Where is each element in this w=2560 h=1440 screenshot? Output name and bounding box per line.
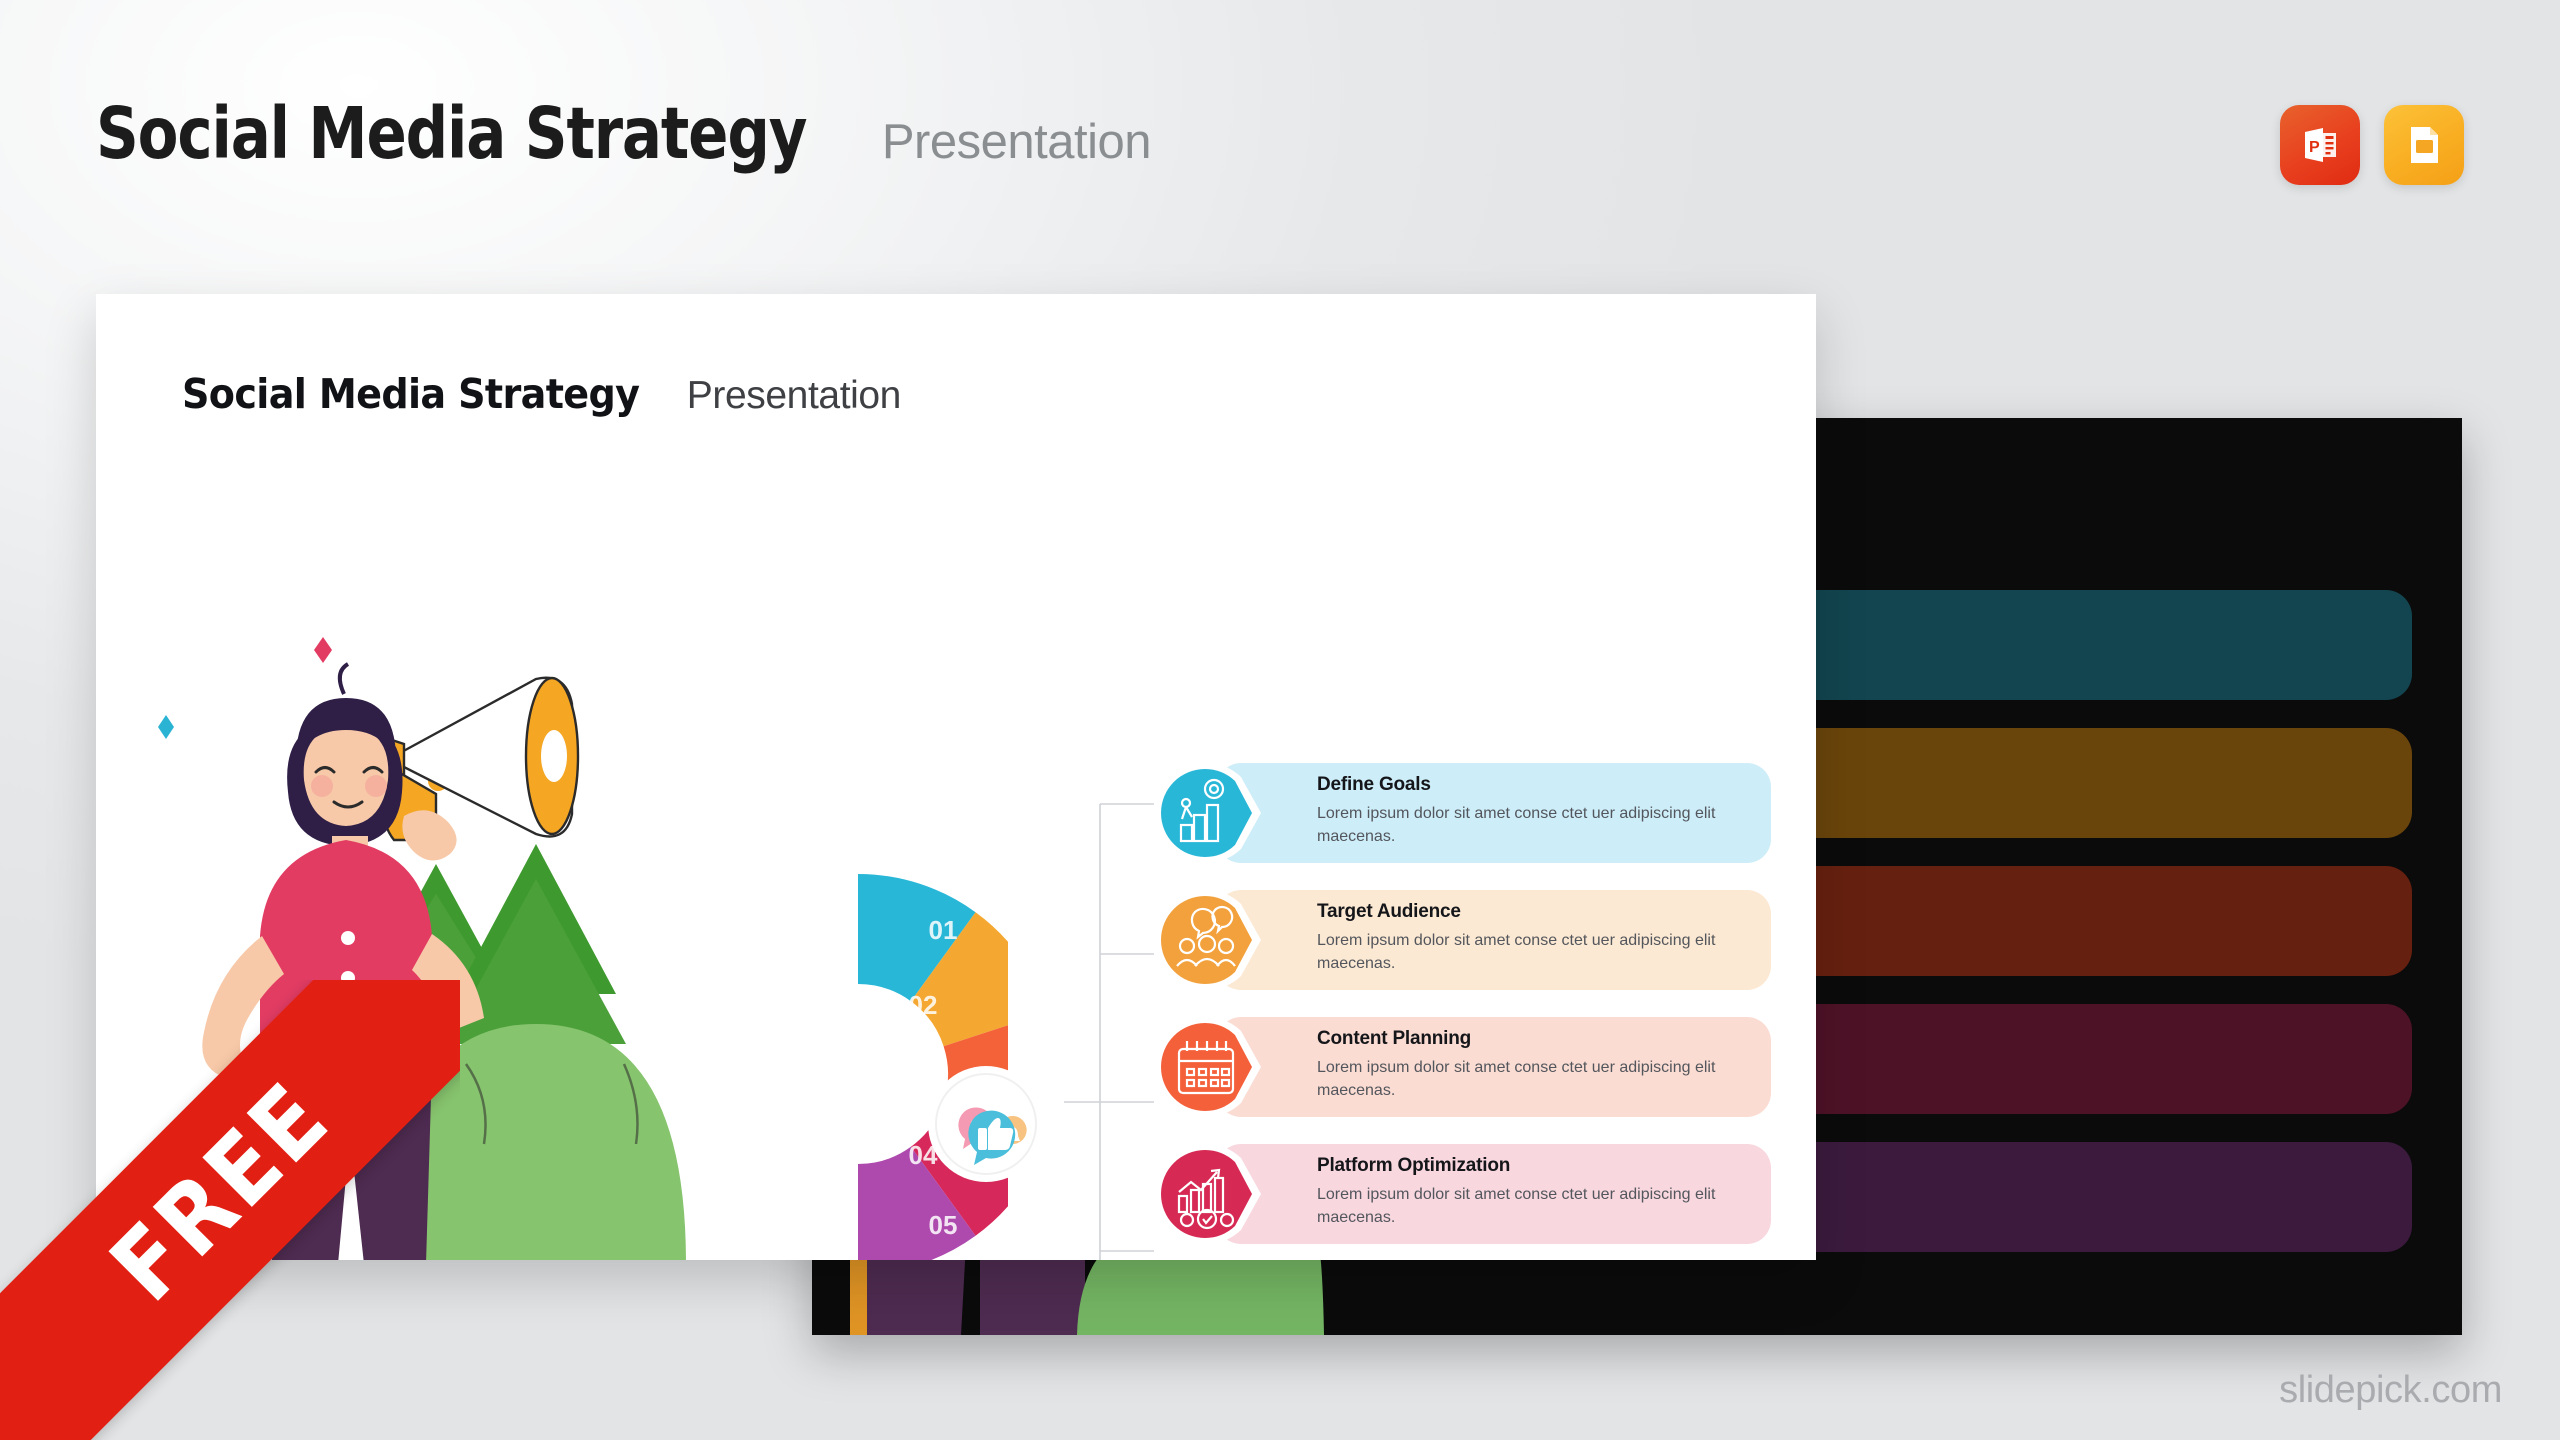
list-item[interactable]: Target Audience Lorem ipsum dolor sit am… — [1151, 886, 1771, 994]
item-card-1[interactable]: Target Audience Lorem ipsum dolor sit am… — [1217, 890, 1771, 990]
slide-title-bold: Social Media Strategy — [182, 370, 639, 418]
site-watermark: slidepick.com — [2279, 1369, 2502, 1412]
woman-with-megaphone-illustration — [136, 544, 756, 1260]
svg-text:P: P — [2309, 139, 2320, 156]
page-header: Social Media Strategy Presentation — [96, 92, 1151, 175]
item-title: Content Planning — [1317, 1028, 1751, 1050]
donut-label-1: 01 — [929, 915, 958, 945]
item-title: Define Goals — [1317, 774, 1751, 796]
light-slide-item-list: Define Goals Lorem ipsum dolor sit amet … — [1151, 759, 1771, 1260]
donut-label-5: 05 — [929, 1210, 958, 1240]
item-title: Target Audience — [1317, 901, 1751, 923]
goal-target-chart-icon — [1151, 759, 1263, 867]
donut-label-2: 02 — [909, 990, 938, 1020]
slide-title-light: Presentation — [687, 374, 901, 418]
item-desc: Lorem ipsum dolor sit amet conse ctet ue… — [1317, 1183, 1751, 1229]
slide-title: Social Media Strategy Presentation — [182, 370, 901, 418]
page-title-light: Presentation — [882, 114, 1151, 170]
item-title: Platform Optimization — [1317, 1155, 1751, 1177]
growth-chart-gears-icon — [1151, 1140, 1263, 1248]
format-icons: P — [2280, 105, 2464, 185]
powerpoint-icon[interactable]: P — [2280, 105, 2360, 185]
item-card-3[interactable]: Platform Optimization Lorem ipsum dolor … — [1217, 1144, 1771, 1244]
page-title-bold: Social Media Strategy — [96, 92, 806, 175]
social-engagement-icon — [926, 1064, 1046, 1184]
item-card-0[interactable]: Define Goals Lorem ipsum dolor sit amet … — [1217, 763, 1771, 863]
list-item[interactable]: Define Goals Lorem ipsum dolor sit amet … — [1151, 759, 1771, 867]
calendar-icon — [1151, 1013, 1263, 1121]
item-card-2[interactable]: Content Planning Lorem ipsum dolor sit a… — [1217, 1017, 1771, 1117]
item-desc: Lorem ipsum dolor sit amet conse ctet ue… — [1317, 802, 1751, 848]
item-desc: Lorem ipsum dolor sit amet conse ctet ue… — [1317, 929, 1751, 975]
audience-group-icon — [1151, 886, 1263, 994]
google-slides-icon[interactable] — [2384, 105, 2464, 185]
item-desc: Lorem ipsum dolor sit amet conse ctet ue… — [1317, 1056, 1751, 1102]
list-item[interactable]: Platform Optimization Lorem ipsum dolor … — [1151, 1140, 1771, 1248]
semicircle-donut-chart: 01 02 03 04 05 — [708, 839, 1008, 1260]
list-item[interactable]: Content Planning Lorem ipsum dolor sit a… — [1151, 1013, 1771, 1121]
light-theme-slide-preview[interactable]: Social Media Strategy Presentation — [96, 294, 1816, 1260]
